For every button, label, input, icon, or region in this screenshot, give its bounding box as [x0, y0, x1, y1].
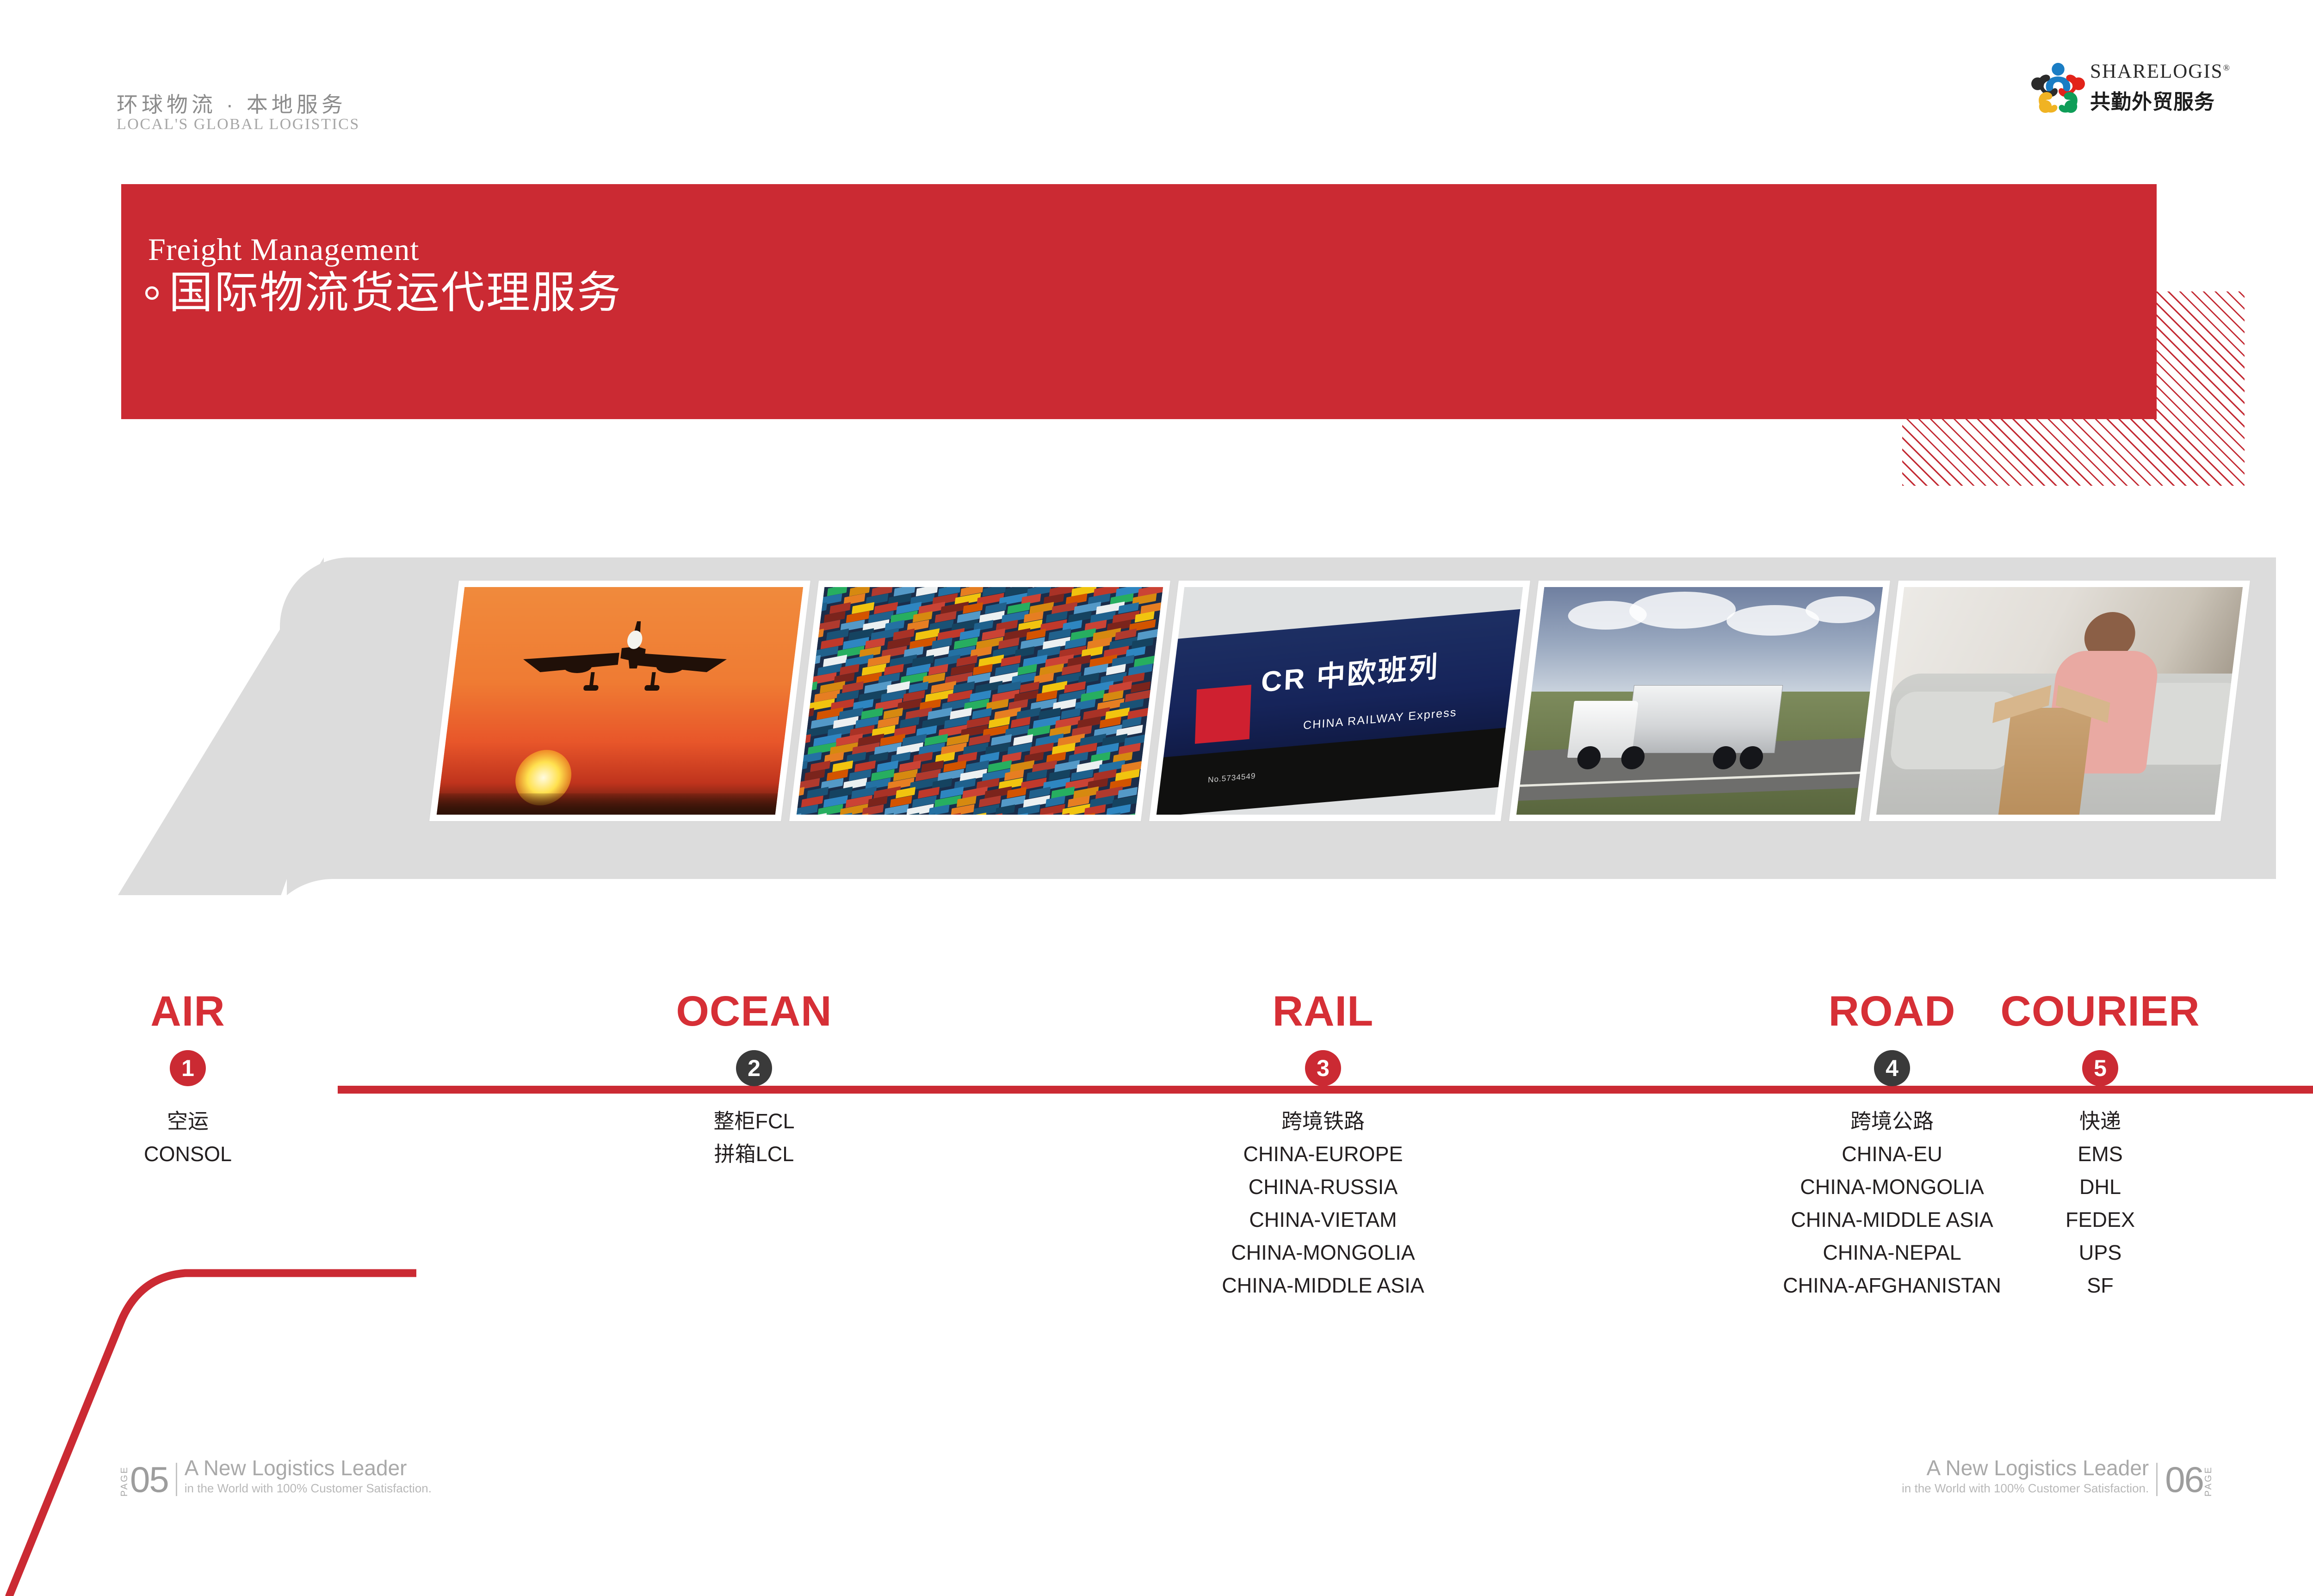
logo-chinese-name: 共勤外贸服务	[2090, 85, 2231, 115]
airplane-icon	[517, 620, 731, 708]
page-word-label: PAGE	[2203, 1466, 2214, 1496]
footer-divider	[2156, 1463, 2158, 1496]
page-number-right: 06	[2165, 1463, 2203, 1496]
mode-detail-item: CONSOL	[40, 1138, 336, 1170]
header-chinese-tagline: 环球物流 · 本地服务	[117, 88, 346, 118]
mode-number-badge: 1	[170, 1050, 206, 1086]
gray-stage-diagonal	[0, 557, 324, 895]
mode-detail-item: 拼箱LCL	[606, 1138, 902, 1170]
ocean-photo	[789, 581, 1170, 821]
mode-detail-item: 跨境铁路	[1175, 1105, 1471, 1138]
mode-detail-item: EMS	[1952, 1138, 2248, 1170]
mode-detail-item: 快递	[1952, 1105, 2248, 1138]
mode-ocean[interactable]: OCEAN 2 整柜FCL 拼箱LCL	[606, 990, 902, 1170]
section-title-chinese-row: 国际物流货运代理服务	[145, 271, 622, 315]
circle-bullet-icon	[145, 286, 159, 300]
logo-wordmark-text: SHARELOGIS	[2090, 61, 2223, 82]
section-title-chinese: 国际物流货运代理服务	[169, 271, 622, 315]
mode-rail[interactable]: RAIL 3 跨境铁路 CHINA-EUROPE CHINA-RUSSIA CH…	[1175, 990, 1471, 1302]
air-photo	[429, 581, 810, 821]
mode-detail-list: 空运 CONSOL	[40, 1105, 336, 1170]
mode-detail-item: CHINA-MONGOLIA	[1175, 1236, 1471, 1269]
mode-detail-item: CHINA-VIETAM	[1175, 1203, 1471, 1236]
mode-air[interactable]: AIR 1 空运 CONSOL	[40, 990, 336, 1170]
footer-right: A New Logistics Leader in the World with…	[1902, 1457, 2214, 1496]
mode-label: AIR	[40, 990, 336, 1033]
registered-trademark-icon: ®	[2223, 63, 2231, 73]
courier-photo	[1869, 581, 2250, 821]
mode-detail-item: FEDEX	[1952, 1203, 2248, 1236]
mode-detail-item: CHINA-MIDDLE ASIA	[1175, 1269, 1471, 1302]
company-logo: SHARELOGIS® 共勤外贸服务	[2031, 60, 2225, 116]
page-word-label: PAGE	[119, 1466, 130, 1496]
logo-wordmark: SHARELOGIS®	[2090, 60, 2231, 83]
page-number-left: 05	[130, 1463, 168, 1496]
mode-label: RAIL	[1175, 990, 1471, 1033]
mode-detail-item: UPS	[1952, 1236, 2248, 1269]
mode-label: COURIER	[1952, 990, 2248, 1033]
mode-detail-item: DHL	[1952, 1170, 2248, 1203]
mode-detail-list: 快递 EMS DHL FEDEX UPS SF	[1952, 1105, 2248, 1302]
footer-tagline-sub: in the World with 100% Customer Satisfac…	[185, 1481, 432, 1496]
mode-label: OCEAN	[606, 990, 902, 1033]
section-title-english: Freight Management	[148, 231, 419, 268]
footer-tagline-main: A New Logistics Leader	[1902, 1457, 2149, 1478]
mode-courier[interactable]: COURIER 5 快递 EMS DHL FEDEX UPS SF	[1952, 990, 2248, 1302]
section-title-banner: Freight Management 国际物流货运代理服务	[121, 184, 2157, 419]
mode-number-badge: 2	[736, 1050, 772, 1086]
footer-divider	[176, 1463, 177, 1496]
mode-detail-item: SF	[1952, 1269, 2248, 1302]
mode-detail-list: 整柜FCL 拼箱LCL	[606, 1105, 902, 1170]
mode-number-badge: 3	[1305, 1050, 1341, 1086]
rail-photo: CR 中欧班列 CHINA RAILWAY Express No.5734549	[1149, 581, 1530, 821]
mode-number-badge: 4	[1874, 1050, 1910, 1086]
mode-detail-item: CHINA-RUSSIA	[1175, 1170, 1471, 1203]
road-photo	[1509, 581, 1890, 821]
mode-detail-list: 跨境铁路 CHINA-EUROPE CHINA-RUSSIA CHINA-VIE…	[1175, 1105, 1471, 1302]
mode-detail-item: 空运	[40, 1105, 336, 1138]
mode-detail-item: 整柜FCL	[606, 1105, 902, 1138]
footer-tagline-main: A New Logistics Leader	[185, 1457, 432, 1478]
footer-tagline-sub: in the World with 100% Customer Satisfac…	[1902, 1481, 2149, 1496]
mode-detail-item: CHINA-EUROPE	[1175, 1138, 1471, 1170]
header-english-tagline: LOCAL'S GLOBAL LOGISTICS	[117, 116, 360, 133]
sharelogis-people-mark-icon	[2031, 61, 2085, 113]
mode-number-badge: 5	[2082, 1050, 2118, 1086]
footer-left: PAGE 05 A New Logistics Leader in the Wo…	[119, 1457, 432, 1496]
